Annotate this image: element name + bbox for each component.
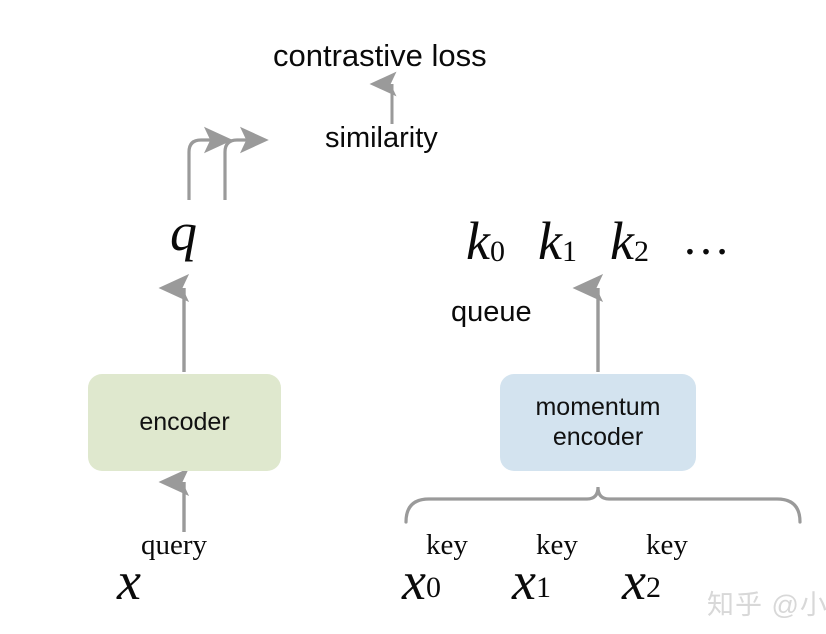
x-key1-base: x bbox=[512, 551, 536, 611]
x-query-superscript: query bbox=[141, 529, 207, 562]
brace-key-inputs bbox=[406, 487, 800, 522]
contrastive-loss-label: contrastive loss bbox=[273, 40, 487, 71]
k0-label: k0 bbox=[466, 205, 510, 272]
x-key1-subscript: 1 bbox=[536, 571, 551, 605]
similarity-label: similarity bbox=[325, 124, 438, 153]
zhihu-watermark: 知乎 @小白 bbox=[707, 583, 826, 622]
connector-layer bbox=[0, 0, 826, 634]
k0-subscript: 0 bbox=[490, 235, 505, 269]
x-query-base: x bbox=[117, 551, 141, 611]
x-key1-superscript: key bbox=[536, 529, 578, 562]
k-ellipsis-label: … bbox=[682, 215, 730, 263]
moco-architecture-diagram: contrastive loss similarity q k0 k1 k2 …… bbox=[0, 0, 826, 634]
x-key2-scripts: key 2 bbox=[646, 545, 706, 599]
x-key2-subscript: 2 bbox=[646, 571, 661, 605]
x-key2-label: x key 2 bbox=[622, 545, 706, 612]
arrow-q-to-similarity bbox=[189, 140, 228, 200]
x-key0-base: x bbox=[402, 551, 426, 611]
x-key0-superscript: key bbox=[426, 529, 468, 562]
k0-base: k bbox=[466, 211, 490, 271]
x-key0-label: x key 0 bbox=[402, 545, 486, 612]
x-query-scripts: query bbox=[141, 545, 227, 599]
encoder-box[interactable]: encoder bbox=[88, 374, 281, 471]
k2-label: k2 bbox=[610, 205, 654, 272]
momentum-encoder-box-label-line2: encoder bbox=[553, 423, 643, 453]
x-key2-base: x bbox=[622, 551, 646, 611]
k1-base: k bbox=[538, 211, 562, 271]
x-key2-superscript: key bbox=[646, 529, 688, 562]
momentum-encoder-box-label-line1: momentum bbox=[535, 393, 660, 423]
q-symbol: q bbox=[170, 202, 197, 262]
k2-base: k bbox=[610, 211, 634, 271]
q-label: q bbox=[170, 205, 197, 259]
k2-subscript: 2 bbox=[634, 235, 649, 269]
encoder-box-label: encoder bbox=[139, 408, 229, 438]
x-key1-label: x key 1 bbox=[512, 545, 596, 612]
k1-scripts: 1 bbox=[562, 205, 582, 259]
k0-scripts: 0 bbox=[490, 205, 510, 259]
k1-subscript: 1 bbox=[562, 235, 577, 269]
k1-label: k1 bbox=[538, 205, 582, 272]
momentum-encoder-box[interactable]: momentum encoder bbox=[500, 374, 696, 471]
arrow-k-to-similarity bbox=[225, 140, 264, 200]
x-query-label: x query bbox=[117, 545, 227, 612]
x-key0-subscript: 0 bbox=[426, 571, 441, 605]
x-key1-scripts: key 1 bbox=[536, 545, 596, 599]
x-key0-scripts: key 0 bbox=[426, 545, 486, 599]
queue-label: queue bbox=[451, 298, 532, 327]
k2-scripts: 2 bbox=[634, 205, 654, 259]
